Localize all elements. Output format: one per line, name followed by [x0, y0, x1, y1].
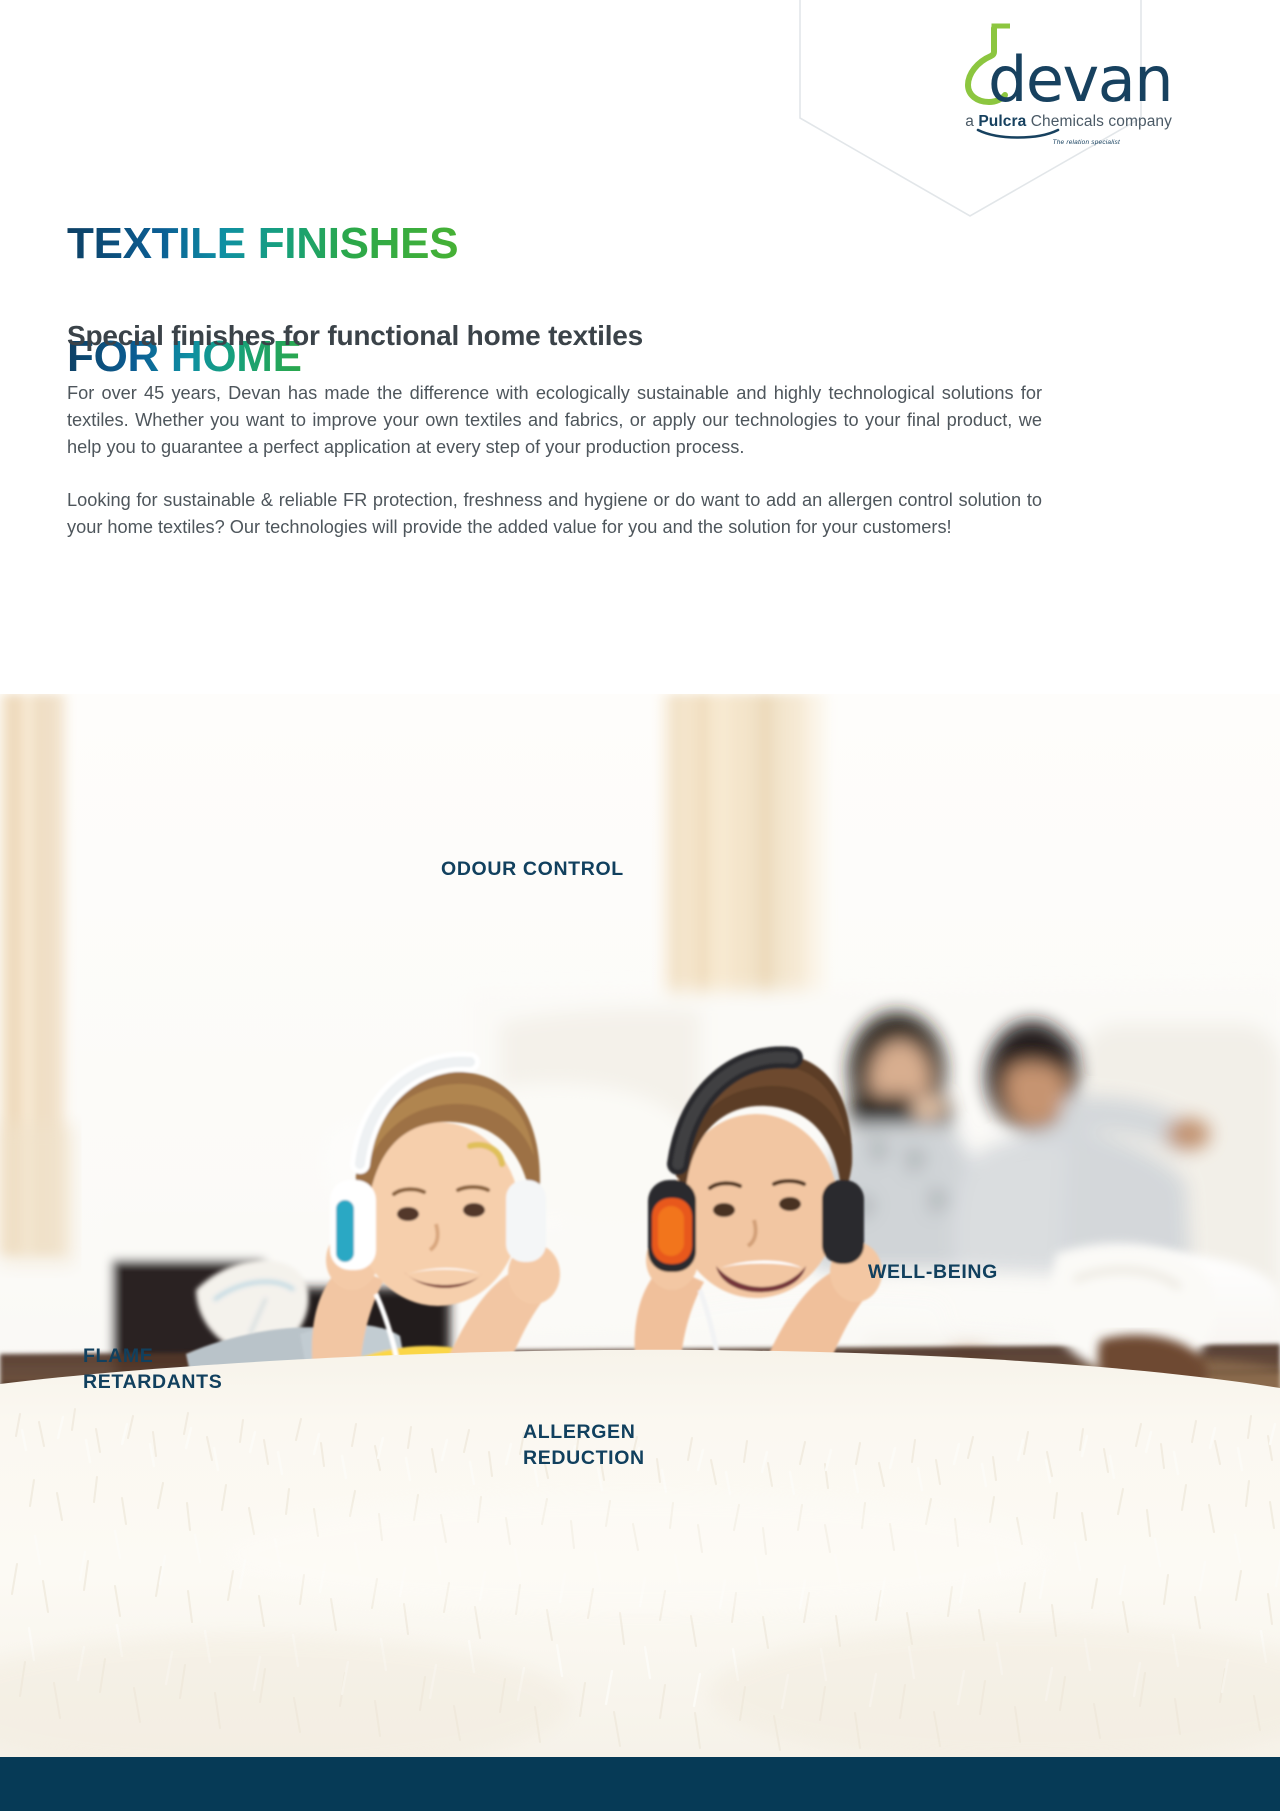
label-flame-retardants: FLAME RETARDANTS [83, 1343, 222, 1396]
logo-tagline: a Pulcra Chemicals company [960, 113, 1172, 131]
headline-line-1: TEXTILE FINISHES [67, 216, 458, 272]
body-copy: For over 45 years, Devan has made the di… [67, 380, 1042, 541]
label-well-being: WELL-BEING [868, 1259, 998, 1285]
body-paragraph-2: Looking for sustainable & reliable FR pr… [67, 487, 1042, 541]
label-odour-control: ODOUR CONTROL [441, 856, 624, 882]
logo-motto: The relation specialist [960, 139, 1120, 146]
logo-tagline-pulcra: Pulcra [978, 113, 1026, 130]
logo-wordmark: devan [988, 55, 1172, 106]
hero-photo [0, 694, 1280, 1757]
logo-mark-row: devan [960, 22, 1172, 106]
logo-tagline-prefix: a [965, 113, 978, 130]
body-paragraph-1: For over 45 years, Devan has made the di… [67, 380, 1042, 461]
logo-tagline-suffix: Chemicals company [1026, 113, 1172, 130]
brochure-page: devan a Pulcra Chemicals company The rel… [0, 0, 1280, 1811]
devan-logo[interactable]: devan a Pulcra Chemicals company The rel… [960, 22, 1172, 146]
label-allergen-reduction: ALLERGEN REDUCTION [523, 1419, 645, 1472]
living-room-photo-illustration [0, 694, 1280, 1757]
footer-bar [0, 1757, 1280, 1811]
subheading: Special finishes for functional home tex… [67, 320, 643, 352]
